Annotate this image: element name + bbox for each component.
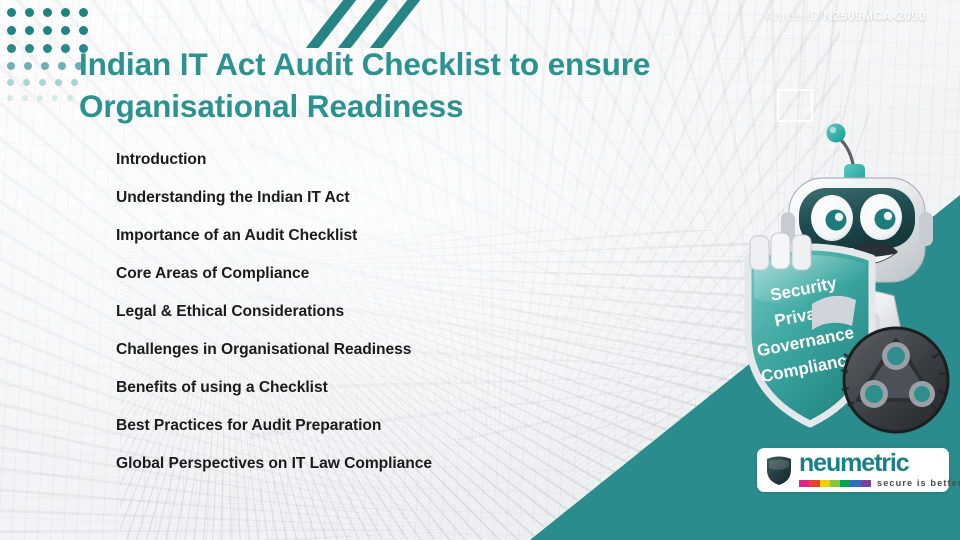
article-id-value: N2509MCA-2090 — [824, 9, 926, 23]
toc-item[interactable]: Core Areas of Compliance — [116, 255, 432, 293]
logo-wordmark: neumetric — [799, 452, 960, 476]
robot-wheel — [841, 328, 948, 432]
toc-item[interactable]: Legal & Ethical Considerations — [116, 293, 432, 331]
slide-root: Article ID N2509MCA-2090 Indian IT Act A… — [0, 0, 960, 540]
toc-item[interactable]: Global Perspectives on IT Law Compliance — [116, 445, 432, 483]
robot-eye-left — [811, 195, 853, 241]
toc-item[interactable]: Importance of an Audit Checklist — [116, 217, 432, 255]
logo-tagline: secure is better — [877, 478, 960, 488]
table-of-contents: Introduction Understanding the Indian IT… — [116, 141, 432, 483]
robot-hand — [750, 233, 811, 270]
toc-item[interactable]: Challenges in Organisational Readiness — [116, 331, 432, 369]
toc-item[interactable]: Understanding the Indian IT Act — [116, 179, 432, 217]
toc-item[interactable]: Best Practices for Audit Preparation — [116, 407, 432, 445]
logo-color-bars — [799, 480, 871, 487]
logo-shield-icon — [765, 454, 793, 486]
neumetric-logo[interactable]: neumetric secure is better — [757, 448, 949, 492]
robot-mascot-illustration: Security Privacy Governance Compliance — [726, 108, 960, 438]
toc-item[interactable]: Benefits of using a Checklist — [116, 369, 432, 407]
article-id: Article ID N2509MCA-2090 — [765, 9, 926, 23]
page-title: Indian IT Act Audit Checklist to ensure … — [79, 44, 769, 128]
dot-matrix-decoration — [7, 8, 88, 110]
article-id-label: Article ID — [765, 9, 820, 23]
robot-eye-right — [860, 194, 902, 240]
toc-item[interactable]: Introduction — [116, 141, 432, 179]
